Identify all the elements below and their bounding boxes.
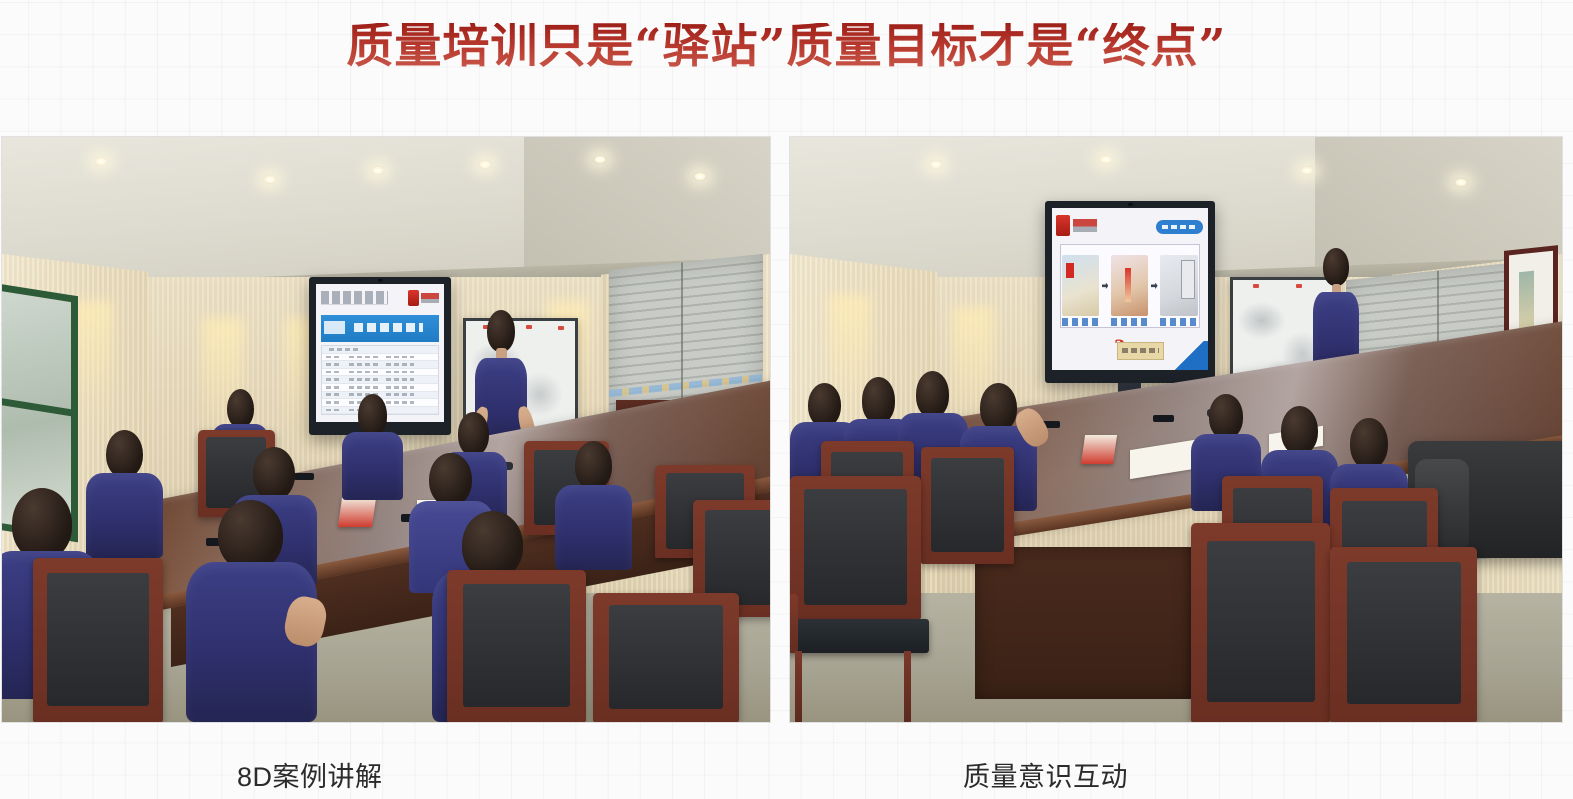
chair-pad bbox=[47, 573, 149, 706]
table-row bbox=[322, 376, 438, 384]
table-row bbox=[322, 354, 438, 362]
attendee-head bbox=[253, 447, 295, 500]
attendee-head bbox=[227, 389, 254, 429]
company-logo bbox=[1056, 215, 1097, 236]
attendee-head bbox=[218, 500, 283, 571]
panel-caption bbox=[1111, 318, 1148, 326]
chair-pad bbox=[609, 605, 723, 709]
screen-camera-icon bbox=[1128, 203, 1133, 206]
table-cell bbox=[349, 386, 379, 389]
logo-mark-icon bbox=[408, 290, 418, 307]
attendee-head bbox=[106, 430, 143, 479]
chair-pad bbox=[1207, 541, 1315, 702]
attendee-head bbox=[429, 453, 471, 506]
chair-pad bbox=[463, 584, 571, 707]
slide-content bbox=[1052, 208, 1208, 369]
panel-caption bbox=[1160, 318, 1197, 326]
attendee-head bbox=[980, 383, 1017, 432]
name-card bbox=[1081, 435, 1118, 464]
slide-title-pill bbox=[1156, 220, 1203, 235]
chair-pad bbox=[931, 458, 1003, 553]
table-cell bbox=[349, 378, 379, 381]
attendee-head bbox=[1350, 418, 1387, 469]
meeting-room-scene-left bbox=[2, 137, 770, 722]
chair-arm bbox=[790, 594, 798, 653]
table-cell bbox=[349, 371, 379, 374]
table-cell bbox=[349, 363, 379, 366]
chair-back bbox=[790, 476, 921, 618]
table-cell bbox=[326, 371, 342, 374]
table-cell bbox=[326, 386, 342, 389]
chair-back bbox=[921, 447, 1014, 564]
slide-blue-band bbox=[321, 315, 439, 343]
chair-back bbox=[593, 593, 739, 722]
chair-seat bbox=[790, 619, 929, 653]
table-row bbox=[322, 346, 438, 354]
downlight-icon bbox=[371, 166, 385, 175]
chair bbox=[447, 570, 585, 722]
attendee bbox=[555, 441, 632, 570]
attendee-head bbox=[458, 412, 490, 456]
band-title-cell bbox=[354, 323, 422, 332]
chair-foreground bbox=[790, 476, 921, 722]
attendee-head bbox=[1209, 394, 1242, 438]
attendee-torso bbox=[342, 432, 403, 499]
logo-wordmark bbox=[421, 293, 439, 303]
table-cell bbox=[326, 363, 342, 366]
chair-back bbox=[1330, 547, 1477, 723]
logo-wordmark bbox=[1073, 219, 1097, 232]
chair-foreground bbox=[1191, 523, 1330, 722]
attendee bbox=[186, 500, 317, 722]
illustration-panel bbox=[1160, 255, 1197, 316]
illustration-panel bbox=[1062, 255, 1099, 316]
attendee-head bbox=[462, 511, 523, 578]
table-cell bbox=[326, 356, 342, 359]
chair-leg bbox=[904, 651, 911, 722]
page-title: 质量培训只是“驿站”质量目标才是“终点” bbox=[346, 23, 1226, 70]
table-cell bbox=[386, 371, 414, 374]
chair-pad bbox=[705, 510, 770, 605]
table-row bbox=[322, 361, 438, 369]
logo-mark-icon bbox=[1056, 215, 1070, 236]
table-row bbox=[322, 384, 438, 392]
attendee-head bbox=[862, 377, 895, 424]
title-bar: 质量培训只是“驿站”质量目标才是“终点” bbox=[0, 0, 1573, 92]
chair-back bbox=[1191, 523, 1330, 722]
magnet-icon bbox=[1253, 284, 1259, 288]
chair-foreground bbox=[1330, 547, 1477, 723]
slide-corner-accent bbox=[1173, 341, 1207, 370]
downlight-icon bbox=[1454, 178, 1468, 187]
name-card bbox=[338, 497, 376, 527]
chair-back bbox=[33, 558, 164, 722]
arrow-right-icon bbox=[1102, 283, 1109, 290]
table-cell bbox=[386, 386, 414, 389]
slide-diagram bbox=[1060, 244, 1200, 328]
attendee bbox=[340, 394, 405, 499]
table-cell bbox=[329, 348, 359, 351]
company-logo bbox=[408, 290, 439, 307]
table-cell bbox=[326, 378, 342, 381]
presenter-head bbox=[487, 310, 515, 352]
slide-note-box bbox=[1117, 342, 1164, 360]
phone bbox=[1153, 415, 1175, 422]
attendee-torso bbox=[555, 485, 632, 570]
panel-caption bbox=[1062, 318, 1099, 326]
attendee-head bbox=[1281, 406, 1318, 455]
attendee-head bbox=[358, 394, 387, 436]
presenter-head bbox=[1323, 248, 1348, 286]
conference-table-panel bbox=[975, 547, 1191, 699]
band-label-cell bbox=[324, 321, 345, 334]
table-cell bbox=[386, 356, 414, 359]
table-cell bbox=[386, 378, 414, 381]
table-cell bbox=[349, 356, 379, 359]
downlight-icon bbox=[593, 155, 607, 164]
attendee-head bbox=[916, 371, 949, 418]
screen-camera-icon bbox=[378, 279, 383, 282]
attendee-head bbox=[575, 441, 612, 490]
chair bbox=[921, 447, 1014, 564]
downlight-icon bbox=[1300, 166, 1314, 175]
magnet-icon bbox=[558, 326, 564, 330]
chair bbox=[593, 593, 739, 722]
attendee-head bbox=[808, 383, 841, 427]
attendee-head bbox=[12, 488, 72, 560]
table-row bbox=[322, 369, 438, 377]
chair-back bbox=[447, 570, 585, 722]
photo-left[interactable] bbox=[2, 137, 770, 722]
illustration-panel bbox=[1111, 255, 1148, 316]
slide-heading-text bbox=[321, 291, 388, 305]
magnet-icon bbox=[1296, 284, 1302, 288]
photo-right[interactable] bbox=[790, 137, 1562, 722]
presentation-screen[interactable] bbox=[1045, 201, 1215, 382]
chair-leg bbox=[795, 651, 802, 722]
chair-pad bbox=[1347, 562, 1461, 704]
chair bbox=[33, 558, 164, 722]
meeting-room-scene-right bbox=[790, 137, 1562, 722]
downlight-icon bbox=[1099, 155, 1113, 164]
chair-pad bbox=[804, 489, 906, 604]
caption-photo-right: 质量意识互动 bbox=[963, 752, 1128, 796]
caption-photo-left: 8D案例讲解 bbox=[237, 752, 383, 796]
arrow-right-icon bbox=[1151, 283, 1158, 290]
table-cell bbox=[386, 363, 414, 366]
